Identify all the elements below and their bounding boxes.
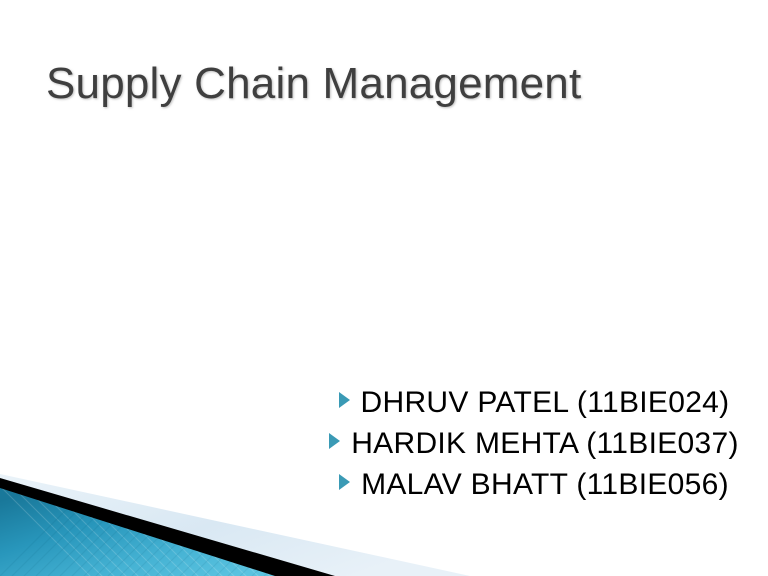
list-item-label: MALAV BHATT (11BIE056) (361, 468, 729, 501)
triangle-bullet-icon (339, 474, 350, 490)
slide-title: Supply Chain Management (46, 58, 706, 110)
triangle-bullet-icon (339, 392, 350, 408)
slide-body-placeholder: DHRUV PATEL (11BIE024) HARDIK MEHTA (11B… (300, 382, 768, 505)
list-item: HARDIK MEHTA (11BIE037) (300, 423, 768, 464)
list-item-label: HARDIK MEHTA (11BIE037) (351, 427, 739, 460)
list-item-label: DHRUV PATEL (11BIE024) (361, 386, 730, 419)
list-item: DHRUV PATEL (11BIE024) (300, 382, 768, 423)
triangle-bullet-icon (329, 433, 340, 449)
list-item: MALAV BHATT (11BIE056) (300, 464, 768, 505)
decoration-band-blue (0, 488, 275, 576)
decoration-band-black (0, 478, 335, 576)
presentation-slide: Supply Chain Management DHRUV PATEL (11B… (0, 0, 768, 576)
